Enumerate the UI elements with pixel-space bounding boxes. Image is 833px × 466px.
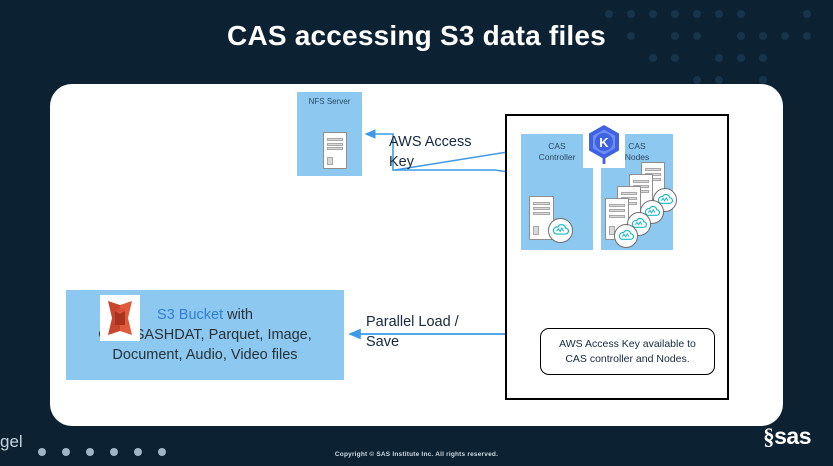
page-title: CAS accessing S3 data files — [0, 20, 833, 52]
parallel-load-arrow-label: Parallel Load / Save — [366, 312, 476, 352]
footer-brand: gel — [0, 432, 23, 452]
aws-access-key-arrow-label: AWS Access Key — [389, 132, 479, 172]
server-tower-icon — [323, 132, 347, 169]
callout-line1: AWS Access Key available to — [559, 337, 696, 352]
parallel-label-line2: Save — [366, 332, 476, 352]
sas-logo: §sas — [763, 423, 811, 450]
sas-logo-text: sas — [774, 423, 811, 449]
diagram-canvas: NFS Server AWS Access Key CAS Controller — [50, 84, 783, 426]
aws-access-key-label-line2: Key — [389, 152, 479, 172]
nfs-server-block[interactable]: NFS Server — [297, 92, 362, 176]
nfs-server-label: NFS Server — [297, 97, 362, 106]
aws-s3-bucket-icon — [100, 295, 140, 341]
sas-logo-mark: § — [763, 424, 774, 449]
kubernetes-logo-icon: K — [583, 122, 625, 168]
aws-access-key-label-line1: AWS Access — [389, 132, 479, 152]
copyright-text: Copyright © SAS Institute Inc. All right… — [0, 451, 833, 458]
parallel-label-line1: Parallel Load / — [366, 312, 476, 332]
cas-cloud-badge-icon — [614, 224, 638, 248]
s3-bucket-name: S3 Bucket — [157, 307, 223, 323]
s3-bucket-block[interactable]: S3 Bucket with CSV, SASHDAT, Parquet, Im… — [66, 290, 344, 380]
aws-access-key-callout: AWS Access Key available to CAS controll… — [540, 328, 715, 375]
svg-text:K: K — [599, 135, 609, 150]
s3-bucket-suffix: with — [223, 307, 253, 323]
s3-formats-line2: Document, Audio, Video files — [98, 345, 312, 365]
cas-cloud-badge-icon — [548, 218, 573, 243]
callout-line2: CAS controller and Nodes. — [559, 352, 696, 367]
